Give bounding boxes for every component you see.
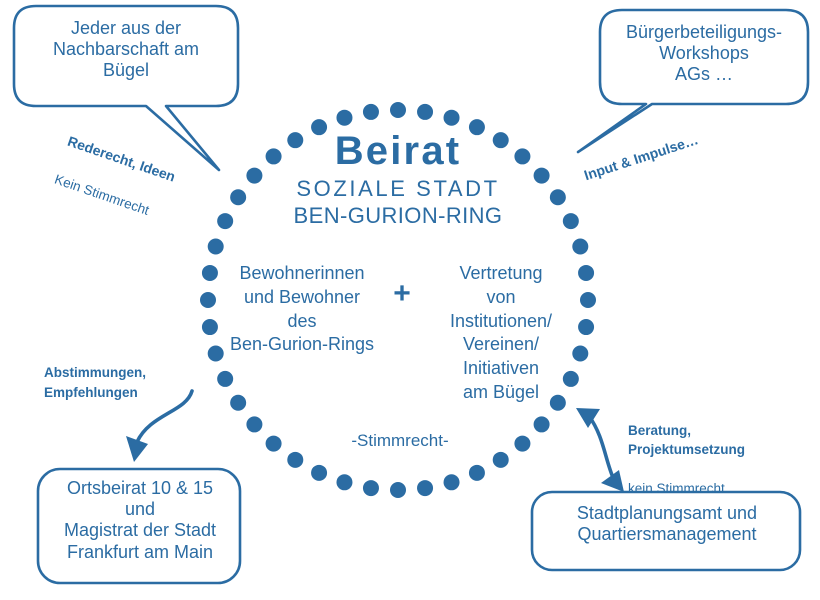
ring-dot [469,465,485,481]
box-text-ortsbeirat: Ortsbeirat 10 & 15 und Magistrat der Sta… [44,478,236,563]
diagram-canvas: Jeder aus der Nachbarschaft am Bügel Bür… [0,0,820,600]
ring-dot [336,110,352,126]
connector-label-abstimmungen: Abstimmungen, Empfehlungen [44,363,194,402]
ring-dot [514,436,530,452]
ring-dot [230,189,246,205]
ring-dot [580,292,596,308]
ring-dot [417,104,433,120]
ring-subtitle-primary: SOZIALE STADT [258,176,538,202]
ring-title: Beirat [258,128,538,175]
ring-dot [217,213,233,229]
ring-dot [572,238,588,254]
ring-dot [217,371,233,387]
bubble-text-neighborhood: Jeder aus der Nachbarschaft am Bügel [24,18,228,82]
connector-label-beratung-bold: Beratung, Projektumsetzung [628,421,798,459]
ring-dot [202,265,218,281]
ring-dot [208,238,224,254]
plus-icon: + [386,276,418,311]
ring-dot [266,436,282,452]
ring-dot [444,474,460,490]
ring-dot [246,416,262,432]
ring-dot [287,452,303,468]
ring-dot [230,395,246,411]
ring-dot [200,292,216,308]
ring-dot [363,104,379,120]
ring-dot [493,452,509,468]
ring-dot [390,482,406,498]
ring-dot [202,319,218,335]
ring-column-representation: Vertretung von Institutionen/ Vereinen/ … [420,262,582,405]
ring-subtitle-secondary: BEN-GURION-RING [250,203,546,229]
connector-label-beratung-sub: kein Stimmrecht [628,479,798,498]
arrow-beratung [576,408,624,492]
ring-dot [534,416,550,432]
ring-dot [550,189,566,205]
ring-dot [417,480,433,496]
bubble-text-workshops: Bürgerbeteiligungs- Workshops AGs … [606,22,802,86]
ring-dot [563,213,579,229]
ring-dot [311,465,327,481]
ring-dot [336,474,352,490]
ring-dot [363,480,379,496]
ring-voting-note: -Stimmrecht- [320,431,480,451]
ring-dot [390,102,406,118]
connector-label-beratung: Beratung, Projektumsetzung kein Stimmrec… [628,402,798,517]
ring-column-residents: Bewohnerinnen und Bewohner des Ben-Gurio… [218,262,386,357]
ring-dot [444,110,460,126]
